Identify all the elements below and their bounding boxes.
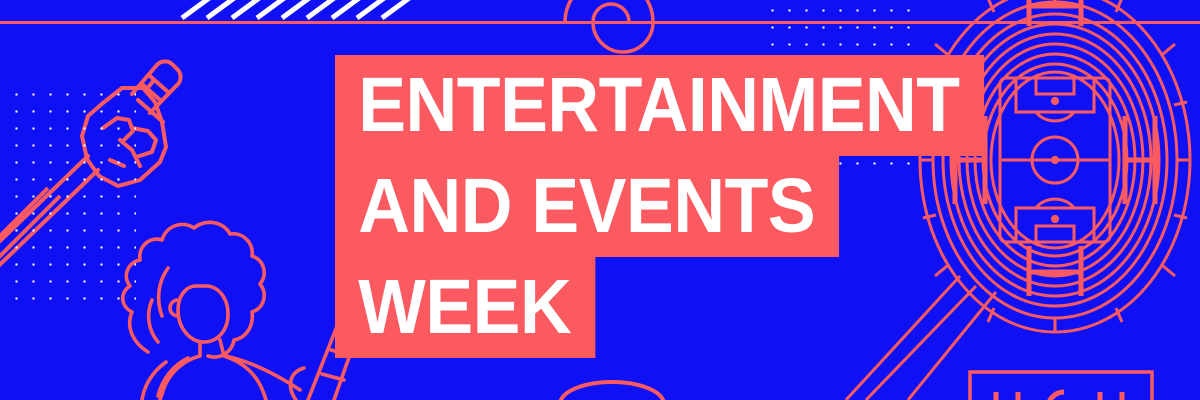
white-diagonal-slashes <box>182 0 412 18</box>
banner-title: ENTERTAINMENT AND EVENTS WEEK <box>335 55 1033 358</box>
title-line-2: AND EVENTS <box>335 156 839 257</box>
bottom-arc-line <box>560 382 664 400</box>
guitarist-figure-icon <box>123 222 300 400</box>
title-line-3: WEEK <box>335 257 595 358</box>
title-line-1: ENTERTAINMENT <box>335 55 984 156</box>
spiral-swirl-icon <box>565 0 653 52</box>
dot-grid-left <box>8 86 136 312</box>
scoreboard-frame-icon <box>970 372 1152 400</box>
entertainment-events-week-banner: ENTERTAINMENT AND EVENTS WEEK <box>0 0 1200 400</box>
